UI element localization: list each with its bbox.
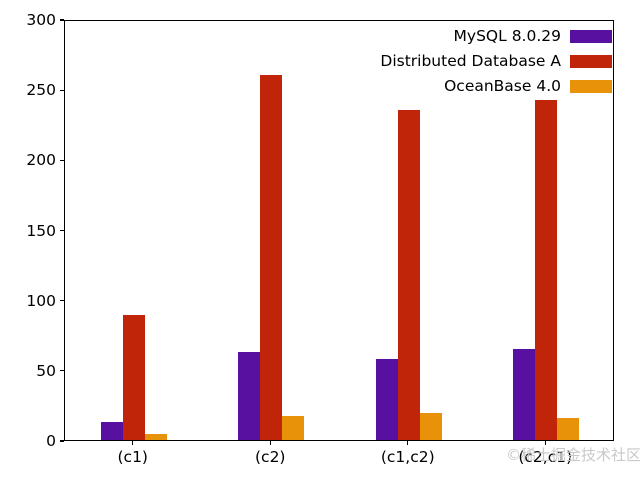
y-tick-label: 250 xyxy=(26,80,56,100)
chart-legend: MySQL 8.0.29Distributed Database AOceanB… xyxy=(380,26,612,96)
legend-color-swatch xyxy=(570,30,612,43)
bar xyxy=(535,100,557,440)
x-tick-label: (c2,c1) xyxy=(465,448,625,466)
legend-item: OceanBase 4.0 xyxy=(380,76,612,96)
bar xyxy=(513,349,535,440)
x-tick-mark xyxy=(407,441,408,445)
y-tick-label: 300 xyxy=(26,10,56,30)
x-tick-mark xyxy=(132,441,133,445)
bar xyxy=(420,413,442,440)
y-tick-label: 50 xyxy=(36,361,56,381)
x-tick-mark xyxy=(545,441,546,445)
legend-label: OceanBase 4.0 xyxy=(444,77,561,95)
bar xyxy=(282,416,304,440)
y-tick-label: 100 xyxy=(26,291,56,311)
bar xyxy=(145,434,167,440)
legend-item: Distributed Database A xyxy=(380,51,612,71)
bar xyxy=(398,110,420,440)
legend-color-swatch xyxy=(570,80,612,93)
x-tick-label: (c2) xyxy=(190,448,350,466)
x-tick-label: (c1,c2) xyxy=(328,448,488,466)
y-tick-label: 200 xyxy=(26,150,56,170)
bar xyxy=(376,359,398,440)
x-tick-label: (c1) xyxy=(53,448,213,466)
legend-item: MySQL 8.0.29 xyxy=(380,26,612,46)
legend-label: MySQL 8.0.29 xyxy=(454,27,561,45)
bar xyxy=(238,352,260,440)
legend-label: Distributed Database A xyxy=(380,52,561,70)
y-tick-label: 150 xyxy=(26,221,56,241)
bar xyxy=(101,422,123,440)
bar xyxy=(260,75,282,440)
bar xyxy=(123,315,145,440)
legend-color-swatch xyxy=(570,55,612,68)
chart-figure: 050100150200250300 (c1)(c2)(c1,c2)(c2,c1… xyxy=(0,0,640,480)
x-tick-mark xyxy=(270,441,271,445)
bar xyxy=(557,418,579,440)
